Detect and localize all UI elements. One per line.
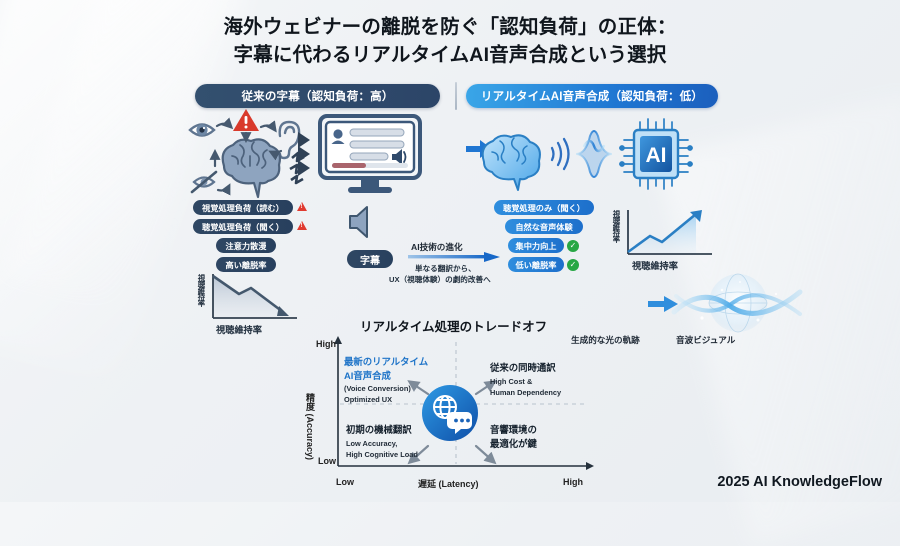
quadrant-bl-sub-line-1: Low Accuracy, (346, 439, 397, 449)
y-axis-tick-low: Low (318, 456, 336, 466)
retention-decline-chart (205, 272, 301, 324)
quadrant-tr-sub-line-2: Human Dependency (490, 388, 561, 398)
right-chart-x-axis-label: 視聴維持率 (632, 258, 678, 272)
y-axis-label: 精度 (Accuracy) (304, 393, 317, 460)
tradeoff-chart-title: リアルタイム処理のトレードオフ (360, 316, 547, 335)
page-title-line-2: 字幕に代わるリアルタイムAI音声合成という選択 (0, 42, 900, 70)
right-pill-low-churn: 低い離脱率 (508, 257, 564, 272)
evolution-note-line-1: 単なる翻訳から、 (415, 263, 476, 274)
page-title-line-1: 海外ウェビナーの離脱を防ぐ「認知負荷」の正体： (0, 14, 900, 42)
left-pill-auditory-load: 聴覚処理負荷（聞く） (193, 219, 293, 234)
quadrant-tl-sub-line-1: (Voice Conversion) (344, 384, 411, 394)
left-chart-x-axis-label: 視聴維持率 (216, 322, 262, 336)
right-pill-natural-voice: 自然な音声体験 (505, 219, 583, 234)
check-circle-icon: ✓ (567, 259, 579, 271)
quadrant-br-heading-line-1: 音響環境の (490, 424, 537, 436)
panel-divider (455, 82, 457, 110)
quadrant-tl-heading-line-1: 最新のリアルタイム (344, 356, 428, 368)
speaker-icon (348, 205, 390, 239)
brain-icon (483, 135, 540, 190)
warning-triangle-icon (233, 109, 259, 131)
right-chart-y-axis-label: 視聴維持率 (611, 210, 622, 242)
left-pill-high-churn: 高い離脱率 (216, 257, 276, 272)
brain-icon (223, 139, 280, 197)
y-axis-tick-high: High (316, 339, 336, 349)
waveform-icon (572, 131, 620, 177)
quadrant-br-heading-line-2: 最適化が鍵 (490, 438, 537, 450)
ai-voice-pipeline-illustration: AI (472, 116, 698, 190)
no-focus-icon (192, 172, 216, 192)
ai-chip-label: AI (646, 144, 667, 167)
retention-growth-chart (620, 208, 716, 260)
eye-icon (190, 124, 214, 135)
audio-waveform-icon (566, 284, 652, 328)
evolution-arrow-icon (408, 252, 500, 262)
x-axis-tick-high: High (563, 477, 583, 487)
right-pill-auditory-only: 聴覚処理のみ（聞く） (494, 200, 594, 215)
quadrant-bl-sub-line-2: High Cognitive Load (346, 450, 418, 460)
check-circle-icon: ✓ (567, 240, 579, 252)
wave-visual-caption: 音波ビジュアル (676, 334, 735, 346)
left-pill-distraction: 注意力散漫 (216, 238, 276, 253)
quadrant-tr-sub-line-1: High Cost & (490, 377, 532, 387)
warning-triangle-icon (297, 202, 307, 211)
quadrant-bl-heading-line-1: 初期の機械翻訳 (346, 424, 412, 436)
subtitle-label-pill: 字幕 (347, 250, 393, 268)
page-title: 海外ウェビナーの離脱を防ぐ「認知負荷」の正体： 字幕に代わるリアルタイムAI音声… (0, 14, 900, 69)
footer-brand: 2025 AI KnowledgeFlow (717, 474, 882, 490)
monitor-icon (318, 114, 422, 196)
left-flow-arrows-icon (296, 130, 320, 178)
cognitive-load-illustration (184, 106, 312, 206)
badge-traditional-subtitles: 従来の字幕（認知負荷：高） (195, 84, 440, 108)
x-axis-tick-low: Low (336, 477, 354, 487)
evolution-note-line-2: UX（視聴体験）の劇的改善へ (389, 274, 491, 285)
quadrant-tl-sub-line-2: Optimized UX (344, 395, 392, 405)
quadrant-tr-heading-line-1: 従来の同時通訳 (490, 362, 556, 374)
quadrant-tl-heading-line-2: AI音声合成 (344, 370, 391, 382)
warning-triangle-icon (297, 221, 307, 230)
sound-wave-icon (552, 139, 569, 169)
sound-wave-visual-icon (672, 272, 802, 338)
right-pill-focus-up: 集中力向上 (508, 238, 564, 253)
ai-chip-icon: AI (620, 119, 692, 189)
badge-realtime-ai-voice: リアルタイムAI音声合成（認知負荷：低） (466, 84, 718, 108)
left-pill-visual-load: 視覚処理負荷（読む） (193, 200, 293, 215)
left-chart-y-axis-label: 視聴維持率 (196, 274, 207, 306)
